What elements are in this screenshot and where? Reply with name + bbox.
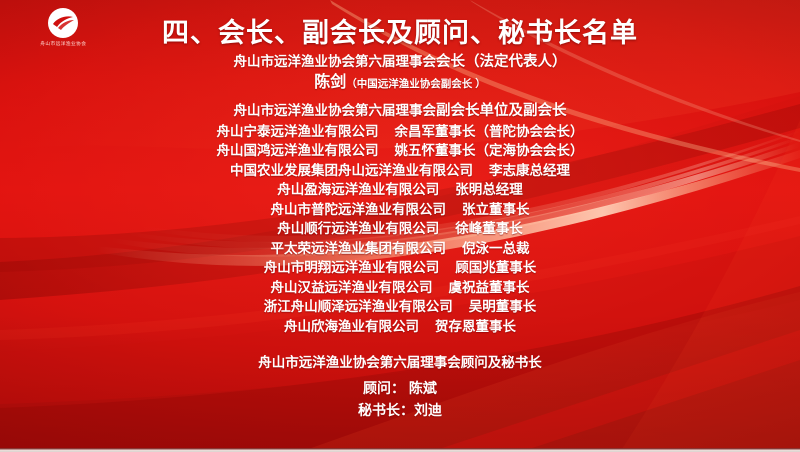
vice-chairman-person: 虞祝益董事长 xyxy=(449,280,530,295)
vice-chairman-row: 舟山市普陀远洋渔业有限公司张立董事长 xyxy=(0,203,800,217)
advisor-heading-prefix: 舟山市远洋渔业协会第六届理事会 xyxy=(258,355,461,370)
vice-chairman-list: 舟山宁泰远洋渔业有限公司余昌军董事长（普陀协会会长）舟山国鸿远洋渔业有限公司姚五… xyxy=(0,125,800,334)
vice-chairman-person: 李志康总经理 xyxy=(489,163,570,178)
advisor-line: 顾问： 陈斌 xyxy=(0,381,800,395)
vice-chairman-company: 舟山市普陀远洋渔业有限公司 xyxy=(271,202,447,217)
vice-chairman-company: 舟山宁泰远洋渔业有限公司 xyxy=(217,124,379,139)
vice-chairman-row: 舟山顺行远洋渔业有限公司徐峰董事长 xyxy=(0,222,800,236)
vice-chairman-row: 浙江舟山顺泽远洋渔业有限公司吴明董事长 xyxy=(0,300,800,314)
vice-chairman-person: 余昌军董事长（普陀协会会长） xyxy=(395,124,584,139)
vice-chairman-company: 平太荣远洋渔业集团有限公司 xyxy=(271,241,447,256)
vice-chairman-person: 姚五怀董事长（定海协会会长） xyxy=(395,143,584,158)
vice-chairman-company: 舟山欣海渔业有限公司 xyxy=(284,319,419,334)
chairman-name: 陈剑 xyxy=(314,74,346,91)
chairman-name-line: 陈剑（中国远洋渔业协会副会长 ） xyxy=(0,75,800,91)
vice-chairman-company: 舟山盈海远洋渔业有限公司 xyxy=(277,182,439,197)
vice-chairman-company: 舟山国鸿远洋渔业有限公司 xyxy=(217,143,379,158)
advisor-heading-emphasis: 顾问及秘书长 xyxy=(461,355,542,370)
secretary-line: 秘书长：刘迪 xyxy=(0,403,800,417)
vice-chairman-row: 舟山市明翔远洋渔业有限公司顾国兆董事长 xyxy=(0,261,800,275)
vice-chairman-person: 倪泳一总裁 xyxy=(462,241,530,256)
vice-chairman-person: 张立董事长 xyxy=(462,202,530,217)
advisor-heading: 舟山市远洋渔业协会第六届理事会顾问及秘书长 xyxy=(0,356,800,370)
chairman-note: （中国远洋渔业协会副会长 ） xyxy=(346,78,485,90)
vice-chairman-row: 舟山国鸿远洋渔业有限公司姚五怀董事长（定海协会会长） xyxy=(0,144,800,158)
vice-chairman-company: 舟山市明翔远洋渔业有限公司 xyxy=(264,260,440,275)
slide-content: 四、会长、副会长及顾问、秘书长名单 舟山市远洋渔业协会第六届理事会会长（法定代表… xyxy=(0,0,800,452)
vice-chairman-row: 舟山汉益远洋渔业有限公司虞祝益董事长 xyxy=(0,281,800,295)
vice-heading-prefix: 舟山市远洋渔业协会第六届理事会 xyxy=(234,103,437,118)
vice-chairman-section: 舟山市远洋渔业协会第六届理事会副会长单位及副会长 舟山宁泰远洋渔业有限公司余昌军… xyxy=(0,104,800,333)
advisor-section: 舟山市远洋渔业协会第六届理事会顾问及秘书长 顾问： 陈斌 秘书长：刘迪 xyxy=(0,356,800,417)
vice-chairman-row: 舟山欣海渔业有限公司贺存恩董事长 xyxy=(0,320,800,334)
chairman-heading-prefix: 舟山市远洋渔业协会第六届理事会 xyxy=(234,54,437,69)
vice-heading-emphasis: 副会长单位及副会长 xyxy=(436,103,567,119)
vice-chairman-person: 贺存恩董事长 xyxy=(435,319,516,334)
chairman-heading: 舟山市远洋渔业协会第六届理事会会长（法定代表人） xyxy=(0,55,800,70)
vice-chairman-company: 舟山顺行远洋渔业有限公司 xyxy=(277,221,439,236)
page-title: 四、会长、副会长及顾问、秘书长名单 xyxy=(0,11,800,50)
vice-chairman-person: 顾国兆董事长 xyxy=(455,260,536,275)
chairman-section: 舟山市远洋渔业协会第六届理事会会长（法定代表人） 陈剑（中国远洋渔业协会副会长 … xyxy=(0,55,800,91)
vice-chairman-person: 吴明董事长 xyxy=(469,299,537,314)
vice-chairman-row: 舟山宁泰远洋渔业有限公司余昌军董事长（普陀协会会长） xyxy=(0,125,800,139)
vice-chairman-row: 舟山盈海远洋渔业有限公司张明总经理 xyxy=(0,183,800,197)
vice-chairman-company: 舟山汉益远洋渔业有限公司 xyxy=(271,280,433,295)
vice-chairman-company: 中国农业发展集团舟山远洋渔业有限公司 xyxy=(230,163,473,178)
vice-heading: 舟山市远洋渔业协会第六届理事会副会长单位及副会长 xyxy=(0,104,800,119)
vice-chairman-person: 张明总经理 xyxy=(455,182,523,197)
vice-chairman-person: 徐峰董事长 xyxy=(455,221,523,236)
chairman-heading-emphasis: 会长（法定代表人） xyxy=(436,54,567,70)
vice-chairman-company: 浙江舟山顺泽远洋渔业有限公司 xyxy=(264,299,453,314)
vice-chairman-row: 中国农业发展集团舟山远洋渔业有限公司李志康总经理 xyxy=(0,164,800,178)
slide-canvas: 舟山市远洋渔业协会 四、会长、副会长及顾问、秘书长名单 舟山市远洋渔业协会第六届… xyxy=(0,0,800,452)
vice-chairman-row: 平太荣远洋渔业集团有限公司倪泳一总裁 xyxy=(0,242,800,256)
